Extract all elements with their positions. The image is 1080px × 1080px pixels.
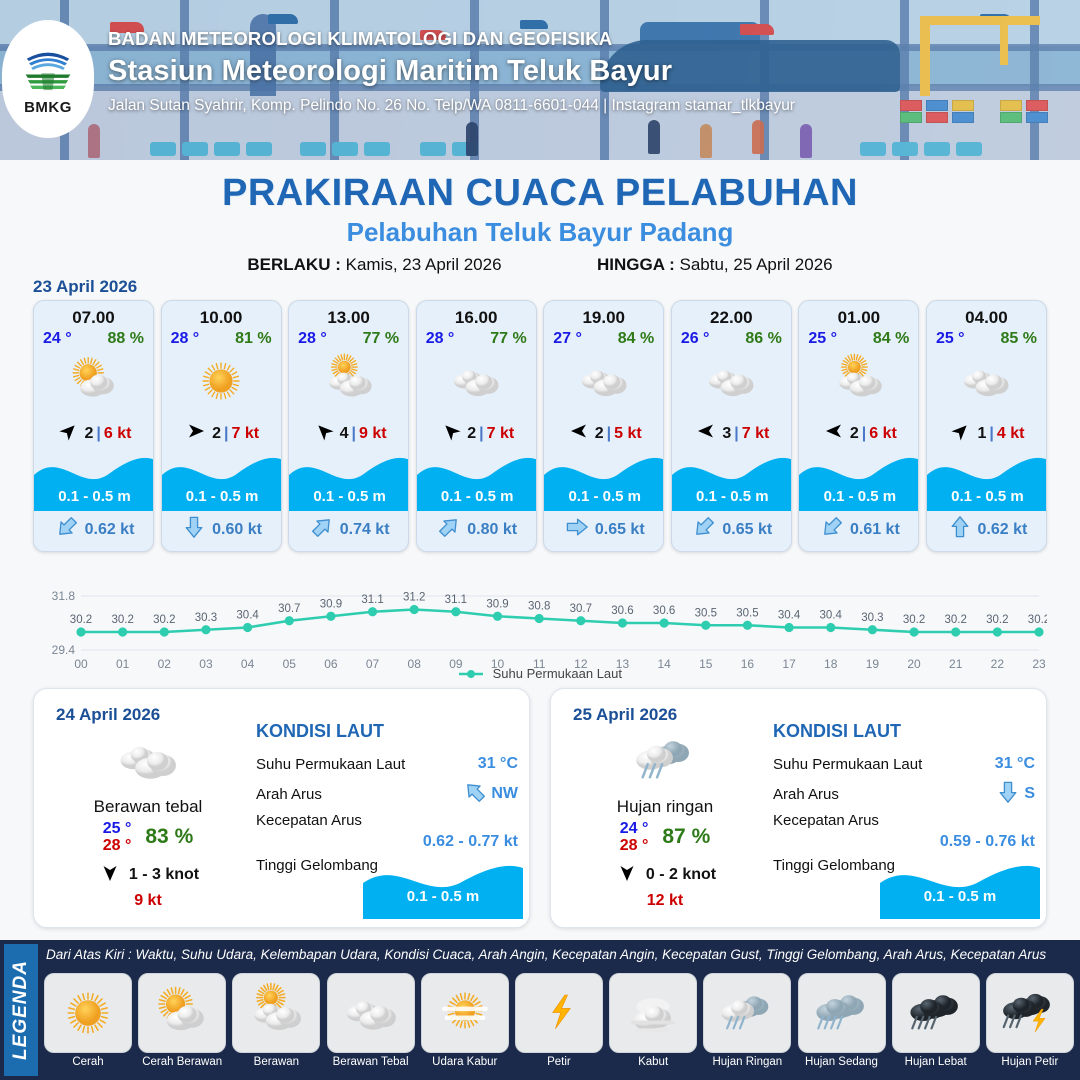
card-humidity: 77 %	[490, 330, 526, 348]
current-direction-arrow-icon	[310, 515, 334, 544]
panel-temp-max: 28 °	[620, 837, 649, 854]
svg-text:31.2: 31.2	[403, 592, 425, 604]
current-direction-arrow-icon	[463, 780, 487, 809]
hourly-card: 10.0028 °81 %2|7 kt0.1 - 0.5 m0.60 kt	[161, 300, 282, 552]
hourly-card: 01.0025 °84 %2|6 kt0.1 - 0.5 m0.61 kt	[798, 300, 919, 552]
svg-text:30.8: 30.8	[528, 601, 550, 613]
contact-info: Jalan Sutan Syahrir, Komp. Pelindo No. 2…	[108, 97, 795, 115]
sst-label: Suhu Permukaan Laut	[256, 756, 405, 773]
panel-left-block: Hujan ringan24 °28 °87 %0 - 2 knot12 kt	[565, 729, 765, 910]
card-wave-height: 0.1 - 0.5 m	[544, 488, 664, 505]
card-time: 16.00	[417, 308, 536, 328]
daily-panel: 24 April 2026Berawan tebal25 °28 °83 %1 …	[33, 688, 530, 928]
sst-value: 31 °C	[478, 755, 518, 773]
legenda-band-label: LEGENDA	[10, 960, 32, 1060]
card-weather-icon	[544, 350, 663, 412]
card-humidity: 77 %	[363, 330, 399, 348]
svg-text:30.3: 30.3	[861, 612, 883, 624]
card-gust: 4 kt	[997, 425, 1025, 443]
station-name: Stasiun Meteorologi Maritim Teluk Bayur	[108, 55, 795, 88]
wind-direction-arrow-icon	[438, 421, 464, 446]
legend-icon-petir	[515, 973, 603, 1053]
legend-footer: LEGENDA Dari Atas Kiri : Waktu, Suhu Uda…	[0, 940, 1080, 1080]
daily-forecast-panels: 24 April 2026Berawan tebal25 °28 °83 %1 …	[33, 688, 1047, 928]
legend-item: Berawan	[232, 973, 320, 1077]
legend-item-label: Berawan	[232, 1056, 320, 1068]
wind-separator: |	[352, 425, 356, 443]
current-direction-arrow-icon	[565, 515, 589, 544]
panel-temp-min: 24 °	[620, 820, 649, 837]
svg-text:30.5: 30.5	[695, 607, 717, 619]
page-subtitle: Pelabuhan Teluk Bayur Padang	[0, 217, 1080, 248]
card-temperature: 26 °	[681, 330, 710, 348]
current-speed-value: 0.59 - 0.76 kt	[773, 833, 1035, 851]
svg-text:30.2: 30.2	[153, 614, 175, 626]
card-temperature: 27 °	[553, 330, 582, 348]
card-current-speed: 0.65 kt	[595, 521, 645, 539]
legend-item: Petir	[515, 973, 603, 1077]
legend-item: Cerah Berawan	[138, 973, 226, 1077]
svg-text:30.2: 30.2	[111, 614, 133, 626]
hourly-card: 07.0024 °88 %2|6 kt0.1 - 0.5 m0.62 kt	[33, 300, 154, 552]
card-gust: 7 kt	[742, 425, 770, 443]
legend-note: Dari Atas Kiri : Waktu, Suhu Udara, Kele…	[46, 947, 1072, 962]
card-current-row: 0.65 kt	[672, 515, 792, 544]
wind-direction-arrow-icon	[614, 863, 640, 888]
svg-text:30.9: 30.9	[486, 598, 508, 610]
card-current-row: 0.62 kt	[34, 515, 154, 544]
current-direction-value: NW	[491, 785, 518, 803]
svg-text:30.4: 30.4	[820, 610, 843, 622]
card-current-row: 0.80 kt	[417, 515, 537, 544]
wind-separator: |	[96, 425, 100, 443]
current-direction-arrow-icon	[55, 515, 79, 544]
header-text-block: BADAN METEOROLOGI KLIMATOLOGI DAN GEOFIS…	[108, 28, 795, 115]
card-gust: 7 kt	[231, 425, 259, 443]
card-wind-scale: 2	[850, 425, 859, 443]
current-speed-label: Kecepatan Arus	[773, 812, 879, 829]
card-time: 07.00	[34, 308, 153, 328]
card-current-speed: 0.80 kt	[467, 521, 517, 539]
svg-text:30.2: 30.2	[903, 614, 925, 626]
agency-name: BADAN METEOROLOGI KLIMATOLOGI DAN GEOFIS…	[108, 28, 795, 50]
card-wave-height: 0.1 - 0.5 m	[162, 488, 282, 505]
current-speed-label: Kecepatan Arus	[256, 812, 362, 829]
card-wind-row: 2|6 kt	[34, 421, 153, 446]
current-direction-value: S	[1024, 785, 1035, 803]
card-gust: 7 kt	[487, 425, 515, 443]
legend-item: Hujan Petir	[986, 973, 1074, 1077]
current-speed-value: 0.62 - 0.77 kt	[256, 833, 518, 851]
chart-legend: Suhu Permukaan Laut	[0, 666, 1080, 682]
current-direction-arrow-icon	[820, 515, 844, 544]
wind-direction-arrow-icon	[566, 421, 592, 446]
legend-item-label: Hujan Petir	[986, 1056, 1074, 1068]
card-temperature: 25 °	[808, 330, 837, 348]
panel-section-title: KONDISI LAUT	[773, 721, 1035, 742]
panel-humidity: 83 %	[145, 825, 193, 849]
hourly-card: 16.0028 °77 %2|7 kt0.1 - 0.5 m0.80 kt	[416, 300, 537, 552]
legend-item-label: Petir	[515, 1056, 603, 1068]
card-wave-height: 0.1 - 0.5 m	[799, 488, 919, 505]
svg-text:30.6: 30.6	[653, 605, 675, 617]
panel-temp-min: 25 °	[103, 820, 132, 837]
legend-items-row: CerahCerah BerawanBerawanBerawan TebalUd…	[44, 973, 1074, 1077]
card-time: 01.00	[799, 308, 918, 328]
panel-condition: Hujan ringan	[565, 797, 765, 817]
card-gust: 9 kt	[359, 425, 387, 443]
current-direction-arrow-icon	[437, 515, 461, 544]
card-weather-icon	[162, 350, 281, 412]
panel-date: 24 April 2026	[56, 705, 160, 725]
wind-direction-arrow-icon	[56, 421, 82, 446]
legend-icon-cerah	[44, 973, 132, 1053]
card-humidity: 85 %	[1000, 330, 1036, 348]
wave-height-label: Tinggi Gelombang	[773, 857, 895, 874]
card-weather-icon	[672, 350, 791, 412]
hourly-card: 13.0028 °77 %4|9 kt0.1 - 0.5 m0.74 kt	[288, 300, 409, 552]
legend-item-label: Berawan Tebal	[327, 1056, 415, 1068]
card-wind-scale: 2	[85, 425, 94, 443]
card-wind-row: 1|4 kt	[927, 421, 1046, 446]
panel-weather-icon	[48, 729, 248, 791]
legend-icon-hujan-sedang	[798, 973, 886, 1053]
current-direction-arrow-icon	[692, 515, 716, 544]
card-weather-icon	[289, 350, 408, 412]
card-gust: 5 kt	[614, 425, 642, 443]
panel-temp-max: 28 °	[103, 837, 132, 854]
card-current-row: 0.61 kt	[799, 515, 919, 544]
card-weather-icon	[417, 350, 536, 412]
forecast-day-label: 23 April 2026	[33, 277, 137, 297]
panel-wind-range: 0 - 2 knot	[646, 866, 716, 884]
card-current-speed: 0.60 kt	[212, 521, 262, 539]
card-wind-scale: 2	[212, 425, 221, 443]
card-temperature: 28 °	[298, 330, 327, 348]
card-time: 13.00	[289, 308, 408, 328]
panel-section-title: KONDISI LAUT	[256, 721, 518, 742]
wind-direction-arrow-icon	[183, 421, 209, 446]
card-wind-scale: 4	[340, 425, 349, 443]
wind-direction-arrow-icon	[311, 421, 337, 446]
legend-item-label: Hujan Lebat	[892, 1056, 980, 1068]
legend-icon-hujan-petir	[986, 973, 1074, 1053]
card-current-row: 0.74 kt	[289, 515, 409, 544]
card-time: 22.00	[672, 308, 791, 328]
card-time: 04.00	[927, 308, 1046, 328]
wave-height-label: Tinggi Gelombang	[256, 857, 378, 874]
svg-text:31.8: 31.8	[52, 589, 76, 603]
valid-from-value: Kamis, 23 April 2026	[346, 255, 502, 274]
legend-item: Hujan Lebat	[892, 973, 980, 1077]
current-direction-label: Arah Arus	[773, 786, 839, 803]
legend-item: Udara Kabur	[421, 973, 509, 1077]
card-weather-icon	[927, 350, 1046, 412]
svg-text:30.9: 30.9	[320, 598, 342, 610]
svg-text:31.1: 31.1	[361, 594, 383, 606]
card-humidity: 88 %	[108, 330, 144, 348]
card-temperature: 28 °	[426, 330, 455, 348]
card-temperature: 24 °	[43, 330, 72, 348]
card-wave-height: 0.1 - 0.5 m	[34, 488, 154, 505]
panel-wind-row: 0 - 2 knot	[565, 863, 765, 888]
svg-text:30.3: 30.3	[195, 612, 217, 624]
valid-until-label: HINGGA :	[597, 255, 675, 274]
daily-panel: 25 April 2026Hujan ringan24 °28 °87 %0 -…	[550, 688, 1047, 928]
valid-from-label: BERLAKU :	[247, 255, 341, 274]
card-humidity: 84 %	[873, 330, 909, 348]
valid-until-value: Sabtu, 25 April 2026	[680, 255, 833, 274]
wind-direction-arrow-icon	[693, 421, 719, 446]
hourly-card: 04.0025 °85 %1|4 kt0.1 - 0.5 m0.62 kt	[926, 300, 1047, 552]
card-time: 19.00	[544, 308, 663, 328]
wind-separator: |	[607, 425, 611, 443]
card-gust: 6 kt	[104, 425, 132, 443]
card-current-row: 0.60 kt	[162, 515, 282, 544]
wind-direction-arrow-icon	[948, 421, 974, 446]
wind-separator: |	[479, 425, 483, 443]
card-weather-icon	[799, 350, 918, 412]
svg-text:30.2: 30.2	[986, 614, 1008, 626]
card-humidity: 86 %	[745, 330, 781, 348]
svg-text:30.4: 30.4	[778, 610, 801, 622]
hourly-forecast-row: 07.0024 °88 %2|6 kt0.1 - 0.5 m0.62 kt10.…	[33, 300, 1047, 552]
card-current-speed: 0.74 kt	[340, 521, 390, 539]
current-direction-arrow-icon	[182, 515, 206, 544]
legend-item: Kabut	[609, 973, 697, 1077]
panel-gust: 9 kt	[48, 892, 248, 910]
page-title: PRAKIRAAN CUACA PELABUHAN	[0, 172, 1080, 215]
card-current-speed: 0.61 kt	[850, 521, 900, 539]
card-wind-row: 4|9 kt	[289, 421, 408, 446]
card-wind-scale: 2	[595, 425, 604, 443]
svg-text:30.2: 30.2	[70, 614, 92, 626]
svg-text:31.1: 31.1	[445, 594, 467, 606]
page-header: BMKG BADAN METEOROLOGI KLIMATOLOGI DAN G…	[0, 0, 1080, 160]
panel-condition: Berawan tebal	[48, 797, 248, 817]
legend-icon-berawan	[232, 973, 320, 1053]
bmkg-logo-mark	[20, 42, 76, 98]
legend-item: Cerah	[44, 973, 132, 1077]
card-wind-row: 3|7 kt	[672, 421, 791, 446]
panel-left-block: Berawan tebal25 °28 °83 %1 - 3 knot9 kt	[48, 729, 248, 910]
card-wind-scale: 3	[722, 425, 731, 443]
svg-text:30.7: 30.7	[278, 603, 300, 615]
legend-item: Hujan Sedang	[798, 973, 886, 1077]
legend-icon-hujan-lebat	[892, 973, 980, 1053]
hourly-card: 22.0026 °86 %3|7 kt0.1 - 0.5 m0.65 kt	[671, 300, 792, 552]
legend-item-label: Cerah	[44, 1056, 132, 1068]
current-direction-label: Arah Arus	[256, 786, 322, 803]
card-wave-height: 0.1 - 0.5 m	[672, 488, 792, 505]
panel-sea-conditions: KONDISI LAUTSuhu Permukaan Laut31 °CArah…	[773, 721, 1035, 879]
card-current-row: 0.62 kt	[927, 515, 1047, 544]
svg-text:30.2: 30.2	[1028, 614, 1047, 626]
legend-icon-kabut	[609, 973, 697, 1053]
hourly-card: 19.0027 °84 %2|5 kt0.1 - 0.5 m0.65 kt	[543, 300, 664, 552]
sst-line-chart: 31.829.430.230.230.230.330.430.730.931.1…	[33, 562, 1047, 680]
card-wind-scale: 2	[467, 425, 476, 443]
svg-text:30.7: 30.7	[570, 603, 592, 615]
panel-wave-value: 0.1 - 0.5 m	[880, 888, 1040, 905]
validity-row: BERLAKU : Kamis, 23 April 2026 HINGGA : …	[0, 255, 1080, 275]
card-wave-height: 0.1 - 0.5 m	[927, 488, 1047, 505]
panel-date: 25 April 2026	[573, 705, 677, 725]
svg-text:30.2: 30.2	[945, 614, 967, 626]
card-wind-row: 2|7 kt	[162, 421, 281, 446]
legend-icon-berawan-tebal	[327, 973, 415, 1053]
panel-sea-conditions: KONDISI LAUTSuhu Permukaan Laut31 °CArah…	[256, 721, 518, 879]
wind-separator: |	[989, 425, 993, 443]
bmkg-logo-label: BMKG	[24, 99, 72, 116]
panel-gust: 12 kt	[565, 892, 765, 910]
card-temperature: 25 °	[936, 330, 965, 348]
wind-separator: |	[862, 425, 866, 443]
card-humidity: 81 %	[235, 330, 271, 348]
svg-text:29.4: 29.4	[52, 643, 76, 657]
card-time: 10.00	[162, 308, 281, 328]
legenda-band: LEGENDA	[4, 944, 38, 1076]
card-wind-row: 2|7 kt	[417, 421, 536, 446]
chart-legend-label: Suhu Permukaan Laut	[493, 666, 622, 681]
panel-wind-row: 1 - 3 knot	[48, 863, 248, 888]
legend-item-label: Cerah Berawan	[138, 1056, 226, 1068]
card-current-speed: 0.62 kt	[85, 521, 135, 539]
svg-text:30.5: 30.5	[736, 607, 758, 619]
legend-icon-udara-kabur	[421, 973, 509, 1053]
chart-legend-swatch	[458, 667, 484, 682]
svg-text:30.6: 30.6	[611, 605, 633, 617]
legend-icon-cerah-berawan	[138, 973, 226, 1053]
svg-text:30.4: 30.4	[236, 610, 259, 622]
panel-wave-value: 0.1 - 0.5 m	[363, 888, 523, 905]
panel-wind-range: 1 - 3 knot	[129, 866, 199, 884]
card-current-speed: 0.65 kt	[722, 521, 772, 539]
legend-icon-hujan-ringan	[703, 973, 791, 1053]
card-wind-scale: 1	[977, 425, 986, 443]
card-current-speed: 0.62 kt	[978, 521, 1028, 539]
card-temperature: 28 °	[171, 330, 200, 348]
legend-item-label: Hujan Sedang	[798, 1056, 886, 1068]
sst-value: 31 °C	[995, 755, 1035, 773]
wind-direction-arrow-icon	[97, 863, 123, 888]
card-wind-row: 2|5 kt	[544, 421, 663, 446]
card-gust: 6 kt	[869, 425, 897, 443]
card-wave-height: 0.1 - 0.5 m	[289, 488, 409, 505]
current-direction-arrow-icon	[996, 780, 1020, 809]
card-wave-height: 0.1 - 0.5 m	[417, 488, 537, 505]
card-weather-icon	[34, 350, 153, 412]
card-current-row: 0.65 kt	[544, 515, 664, 544]
panel-humidity: 87 %	[662, 825, 710, 849]
card-wind-row: 2|6 kt	[799, 421, 918, 446]
wind-separator: |	[224, 425, 228, 443]
wind-direction-arrow-icon	[821, 421, 847, 446]
sst-label: Suhu Permukaan Laut	[773, 756, 922, 773]
legend-item-label: Udara Kabur	[421, 1056, 509, 1068]
current-direction-arrow-icon	[948, 515, 972, 544]
wind-separator: |	[734, 425, 738, 443]
legend-item-label: Hujan Ringan	[703, 1056, 791, 1068]
legend-item-label: Kabut	[609, 1056, 697, 1068]
legend-item: Hujan Ringan	[703, 973, 791, 1077]
card-humidity: 84 %	[618, 330, 654, 348]
legend-item: Berawan Tebal	[327, 973, 415, 1077]
bmkg-logo: BMKG	[2, 20, 94, 138]
panel-weather-icon	[565, 729, 765, 791]
